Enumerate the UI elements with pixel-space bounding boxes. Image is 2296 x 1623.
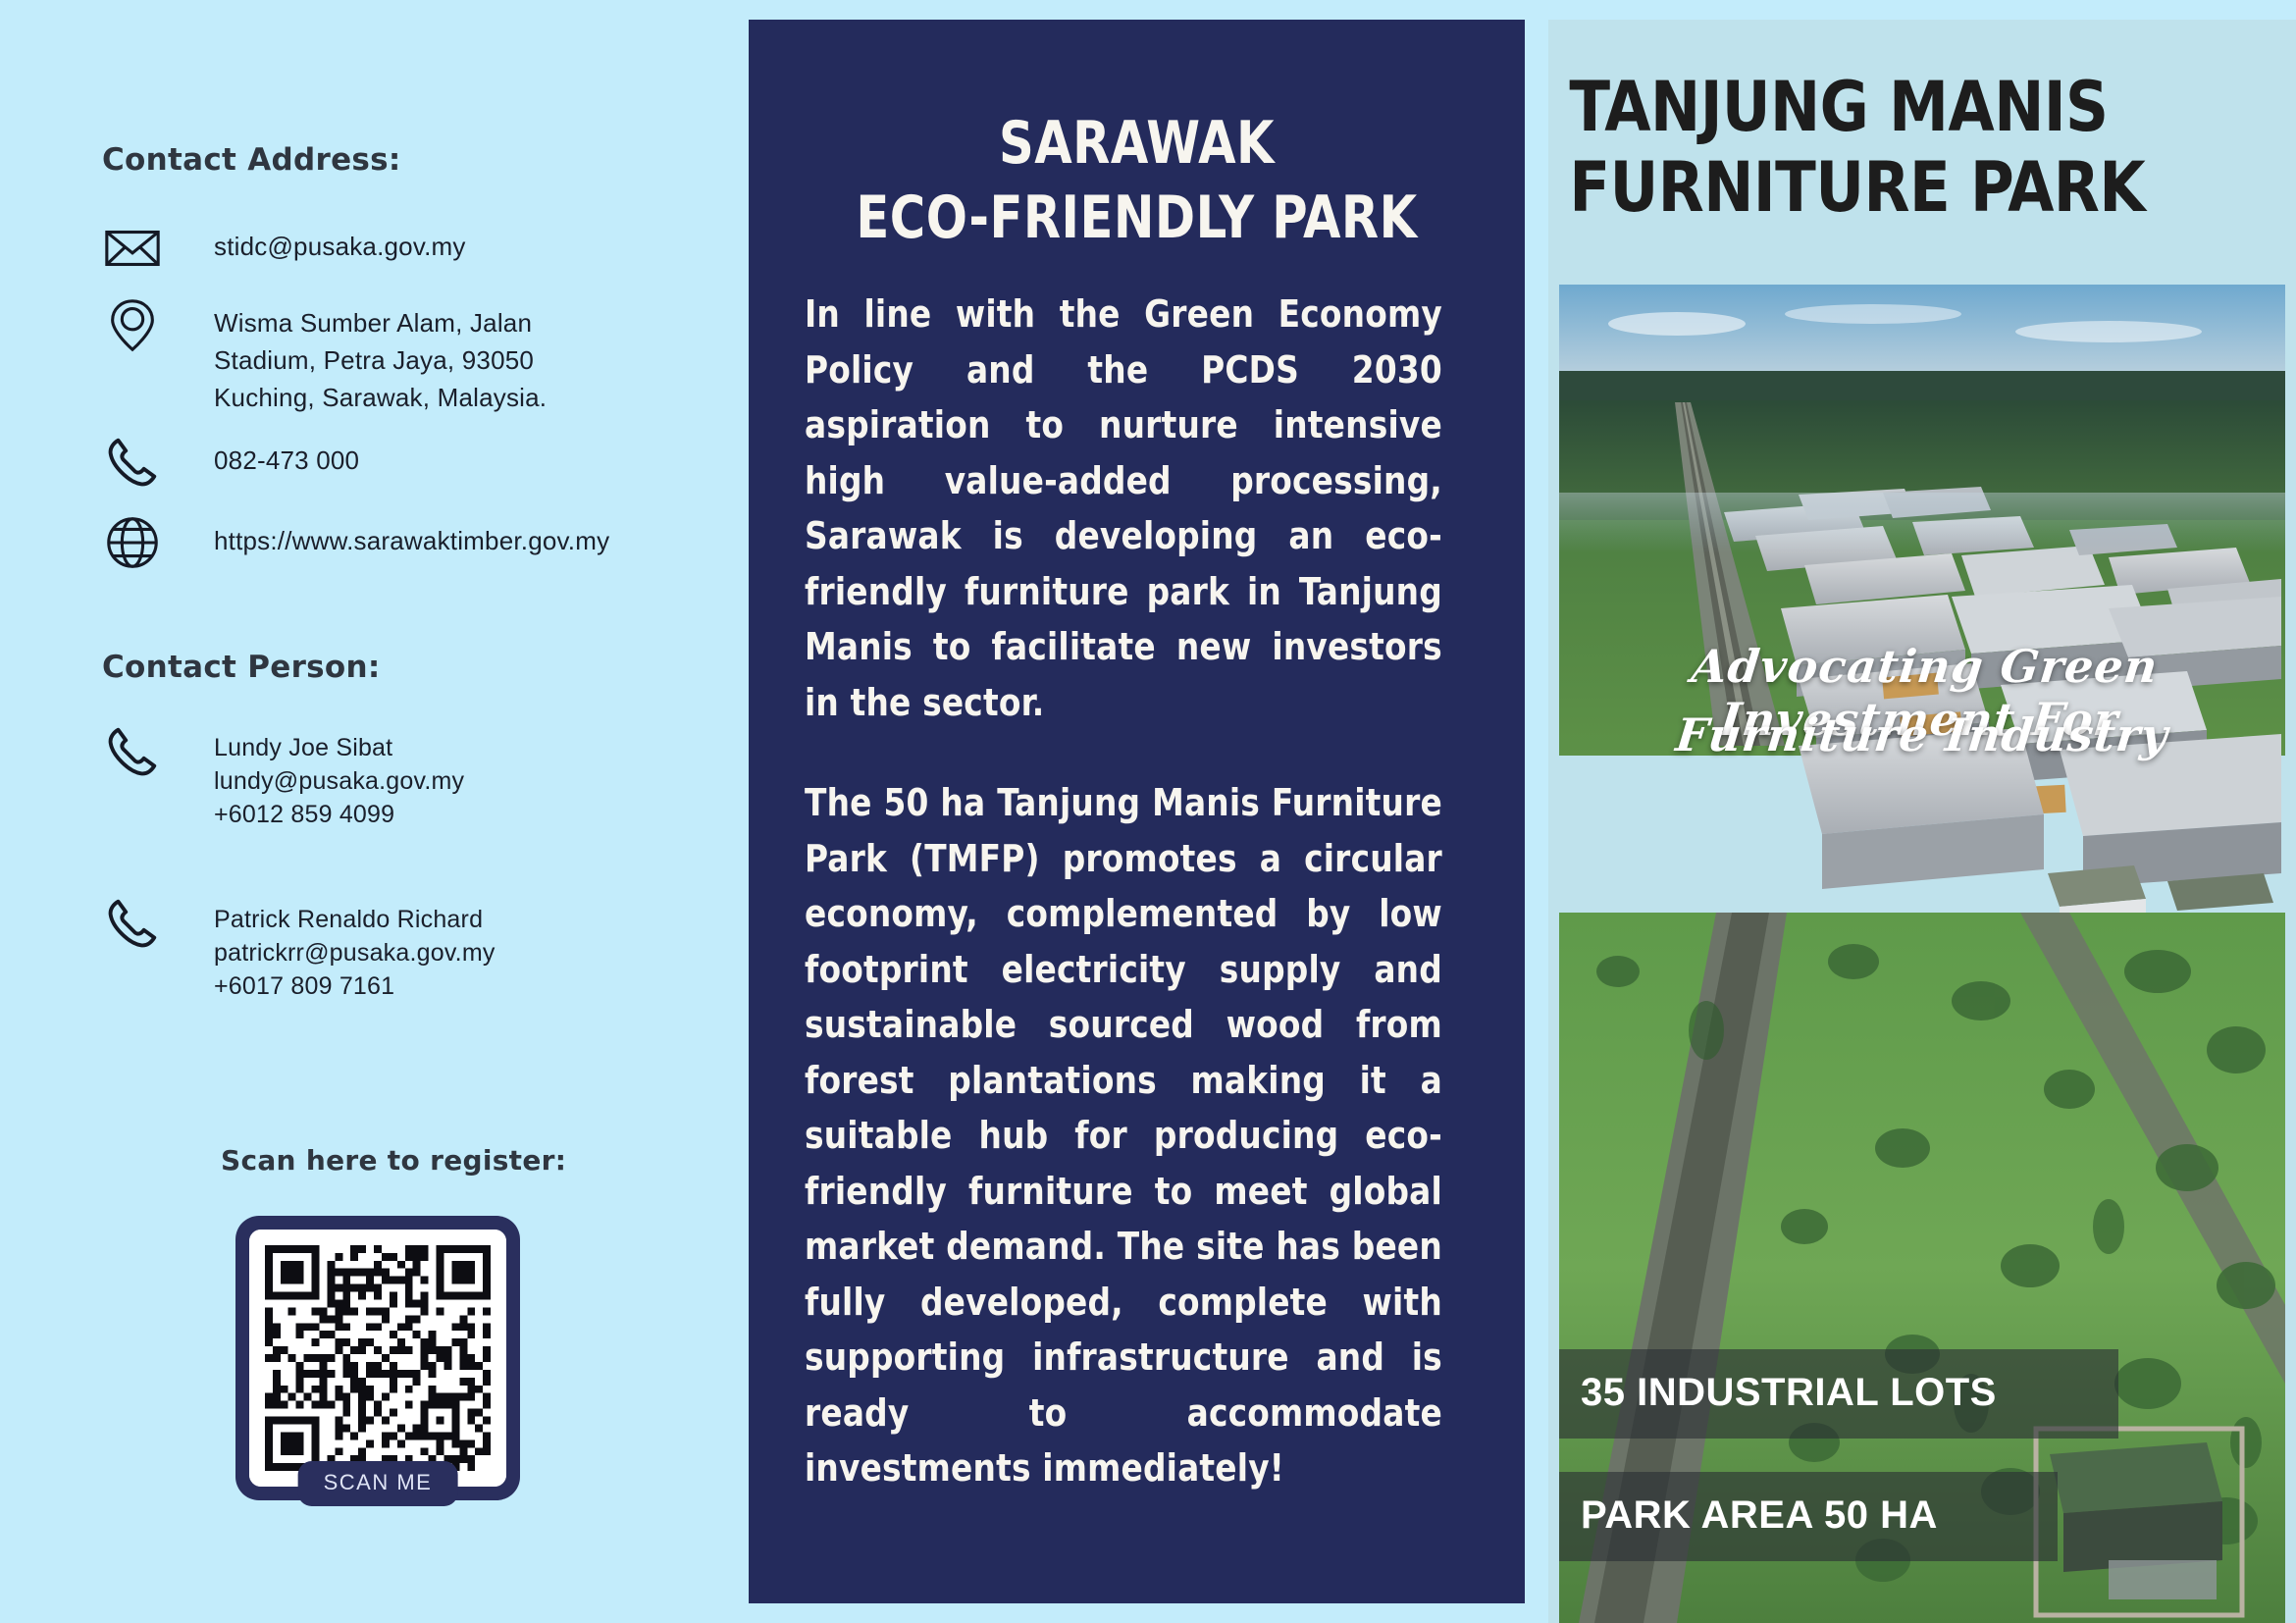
contact-row-website: https://www.sarawaktimber.gov.my bbox=[102, 512, 609, 573]
address-line-2: Stadium, Petra Jaya, 93050 bbox=[214, 341, 685, 379]
email-value[interactable]: stidc@pusaka.gov.my bbox=[214, 218, 466, 265]
person-1-details: Lundy Joe Sibat lundy@pusaka.gov.my +601… bbox=[214, 721, 464, 831]
contact-row-address: Wisma Sumber Alam, Jalan Stadium, Petra … bbox=[102, 294, 685, 416]
center-title-line-1: SARAWAK bbox=[831, 106, 1442, 181]
contact-person-heading: Contact Person: bbox=[102, 650, 381, 685]
person-2-email[interactable]: patrickrr@pusaka.gov.my bbox=[214, 936, 496, 969]
qr-code[interactable]: SCAN ME bbox=[235, 1216, 520, 1500]
phone-icon bbox=[102, 432, 163, 493]
contact-person-2: Patrick Renaldo Richard patrickrr@pusaka… bbox=[102, 893, 496, 1003]
phone-icon bbox=[102, 893, 163, 954]
center-title-line-2: ECO-FRIENDLY PARK bbox=[831, 181, 1442, 255]
scan-here-heading: Scan here to register: bbox=[221, 1144, 566, 1177]
person-1-name: Lundy Joe Sibat bbox=[214, 731, 464, 764]
center-title: SARAWAK ECO-FRIENDLY PARK bbox=[831, 106, 1442, 255]
location-pin-icon bbox=[102, 294, 163, 355]
contact-row-phone: 082-473 000 bbox=[102, 432, 359, 493]
qr-code-image bbox=[249, 1230, 506, 1487]
cover-title-line-2: FURNITURE PARK bbox=[1569, 147, 2273, 228]
contact-person-1: Lundy Joe Sibat lundy@pusaka.gov.my +601… bbox=[102, 721, 464, 831]
person-1-phone[interactable]: +6012 859 4099 bbox=[214, 798, 464, 831]
contact-address-heading: Contact Address: bbox=[102, 142, 401, 178]
globe-icon bbox=[102, 512, 163, 573]
address-value: Wisma Sumber Alam, Jalan Stadium, Petra … bbox=[214, 294, 685, 416]
description-panel: SARAWAK ECO-FRIENDLY PARK In line with t… bbox=[749, 20, 1525, 1603]
qr-code-canvas bbox=[249, 1230, 506, 1487]
address-line-1: Wisma Sumber Alam, Jalan bbox=[214, 304, 685, 341]
aerial-photo: Advocating Green Investment For Furnitur… bbox=[1559, 285, 2285, 1623]
cover-panel: TANJUNG MANIS FURNITURE PARK bbox=[1548, 20, 2296, 1623]
contact-row-email: stidc@pusaka.gov.my bbox=[102, 218, 466, 279]
photo-caption-line-2: Furniture Industry bbox=[1559, 708, 2285, 761]
cover-title: TANJUNG MANIS FURNITURE PARK bbox=[1548, 20, 2273, 228]
contact-panel: Contact Address: stidc@pusaka.gov.my Wis… bbox=[0, 0, 749, 1623]
person-2-phone[interactable]: +6017 809 7161 bbox=[214, 969, 496, 1003]
website-value[interactable]: https://www.sarawaktimber.gov.my bbox=[214, 512, 609, 559]
cover-title-line-1: TANJUNG MANIS bbox=[1569, 67, 2273, 147]
person-2-details: Patrick Renaldo Richard patrickrr@pusaka… bbox=[214, 893, 496, 1003]
phone-value[interactable]: 082-473 000 bbox=[214, 432, 359, 479]
stat-park-area: PARK AREA 50 HA bbox=[1559, 1472, 2058, 1561]
person-1-email[interactable]: lundy@pusaka.gov.my bbox=[214, 764, 464, 798]
envelope-icon bbox=[102, 218, 163, 279]
center-paragraph-2: The 50 ha Tanjung Manis Furniture Park (… bbox=[805, 775, 1442, 1496]
stat-industrial-lots: 35 INDUSTRIAL LOTS bbox=[1559, 1349, 2118, 1439]
person-2-name: Patrick Renaldo Richard bbox=[214, 903, 496, 936]
address-line-3: Kuching, Sarawak, Malaysia. bbox=[214, 379, 685, 416]
scan-me-badge: SCAN ME bbox=[298, 1461, 458, 1506]
center-paragraph-1: In line with the Green Economy Policy an… bbox=[805, 287, 1442, 730]
phone-icon bbox=[102, 721, 163, 782]
